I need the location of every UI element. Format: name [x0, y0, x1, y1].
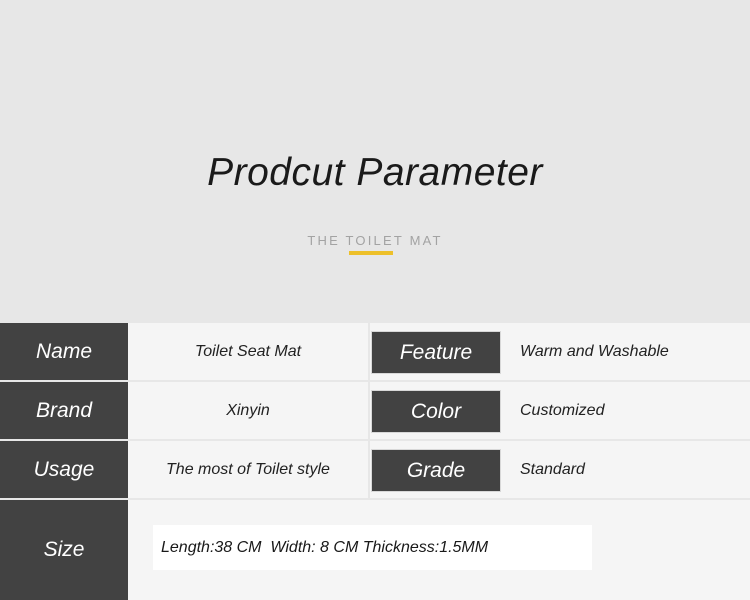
column-divider: [368, 441, 370, 498]
spec-value-feature: Warm and Washable: [512, 323, 750, 380]
table-row: Usage The most of Toilet style Grade Sta…: [0, 441, 750, 500]
spec-table: Name Toilet Seat Mat Feature Warm and Wa…: [0, 323, 750, 600]
spec-value-grade: Standard: [512, 441, 750, 498]
spec-label-feature: Feature: [372, 332, 500, 373]
spec-label-grade: Grade: [372, 450, 500, 491]
spec-value-usage: The most of Toilet style: [128, 441, 368, 498]
spec-label-name: Name: [0, 323, 128, 380]
subtitle-accent-rule: [349, 251, 393, 255]
spec-label-size: Size: [0, 500, 128, 600]
page-subtitle: THE TOILET MAT: [0, 232, 750, 249]
spec-value-brand: Xinyin: [128, 382, 368, 439]
spec-size-box: Length:38 CM Width: 8 CM Thickness:1.5MM: [153, 525, 592, 570]
spec-value-color: Customized: [512, 382, 750, 439]
spec-value-size: Length:38 CM Width: 8 CM Thickness:1.5MM: [161, 539, 488, 557]
spec-label-color: Color: [372, 391, 500, 432]
column-divider: [368, 382, 370, 439]
column-divider: [368, 323, 370, 380]
table-row: Brand Xinyin Color Customized: [0, 382, 750, 441]
spec-label-usage: Usage: [0, 441, 128, 498]
table-row: Name Toilet Seat Mat Feature Warm and Wa…: [0, 323, 750, 382]
table-row: Size Length:38 CM Width: 8 CM Thickness:…: [0, 500, 750, 600]
spec-value-name: Toilet Seat Mat: [128, 323, 368, 380]
page-header: Prodcut Parameter THE TOILET MAT: [0, 0, 750, 323]
spec-label-brand: Brand: [0, 382, 128, 439]
page-title: Prodcut Parameter: [0, 148, 750, 198]
